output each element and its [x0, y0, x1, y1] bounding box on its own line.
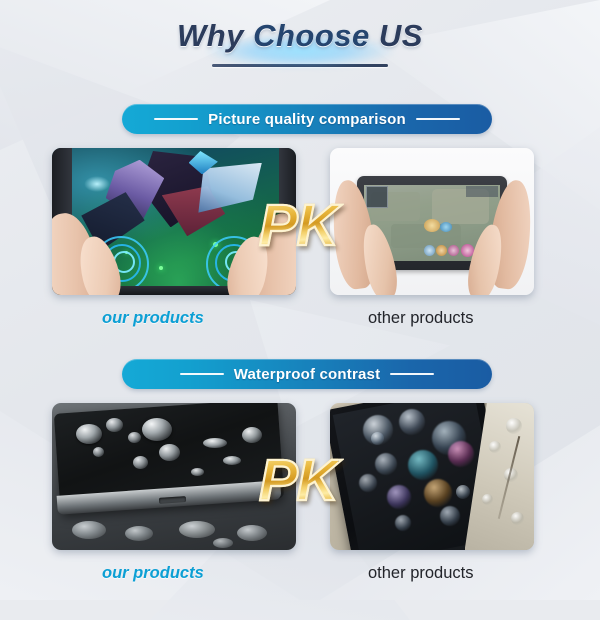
caption-our-products-picture: our products — [102, 309, 204, 328]
caption-other-products-waterproof: other products — [368, 564, 473, 583]
versus-badge-picture-quality: PK — [259, 192, 338, 259]
section-banner-picture-quality: Picture quality comparison — [122, 104, 492, 134]
versus-badge-waterproof: PK — [259, 447, 338, 514]
caption-other-products-picture: other products — [368, 309, 473, 328]
image-card-other-picture-quality — [330, 148, 534, 295]
section-banner-waterproof: Waterproof contrast — [122, 359, 492, 389]
page-title-block: Why Choose US — [0, 18, 600, 67]
title-part-2: Choose — [253, 18, 370, 53]
title-underline — [212, 64, 388, 67]
caption-our-products-waterproof: our products — [102, 564, 204, 583]
banner-dash-left — [154, 118, 198, 120]
title-part-1: Why — [177, 18, 253, 53]
image-card-other-waterproof — [330, 403, 534, 550]
banner-label: Picture quality comparison — [208, 111, 406, 128]
page-title: Why Choose US — [0, 18, 600, 54]
banner-dash-right — [416, 118, 460, 120]
banner-dash-right — [390, 373, 434, 375]
title-part-3: US — [370, 18, 423, 53]
banner-label: Waterproof contrast — [234, 366, 381, 383]
banner-dash-left — [180, 373, 224, 375]
